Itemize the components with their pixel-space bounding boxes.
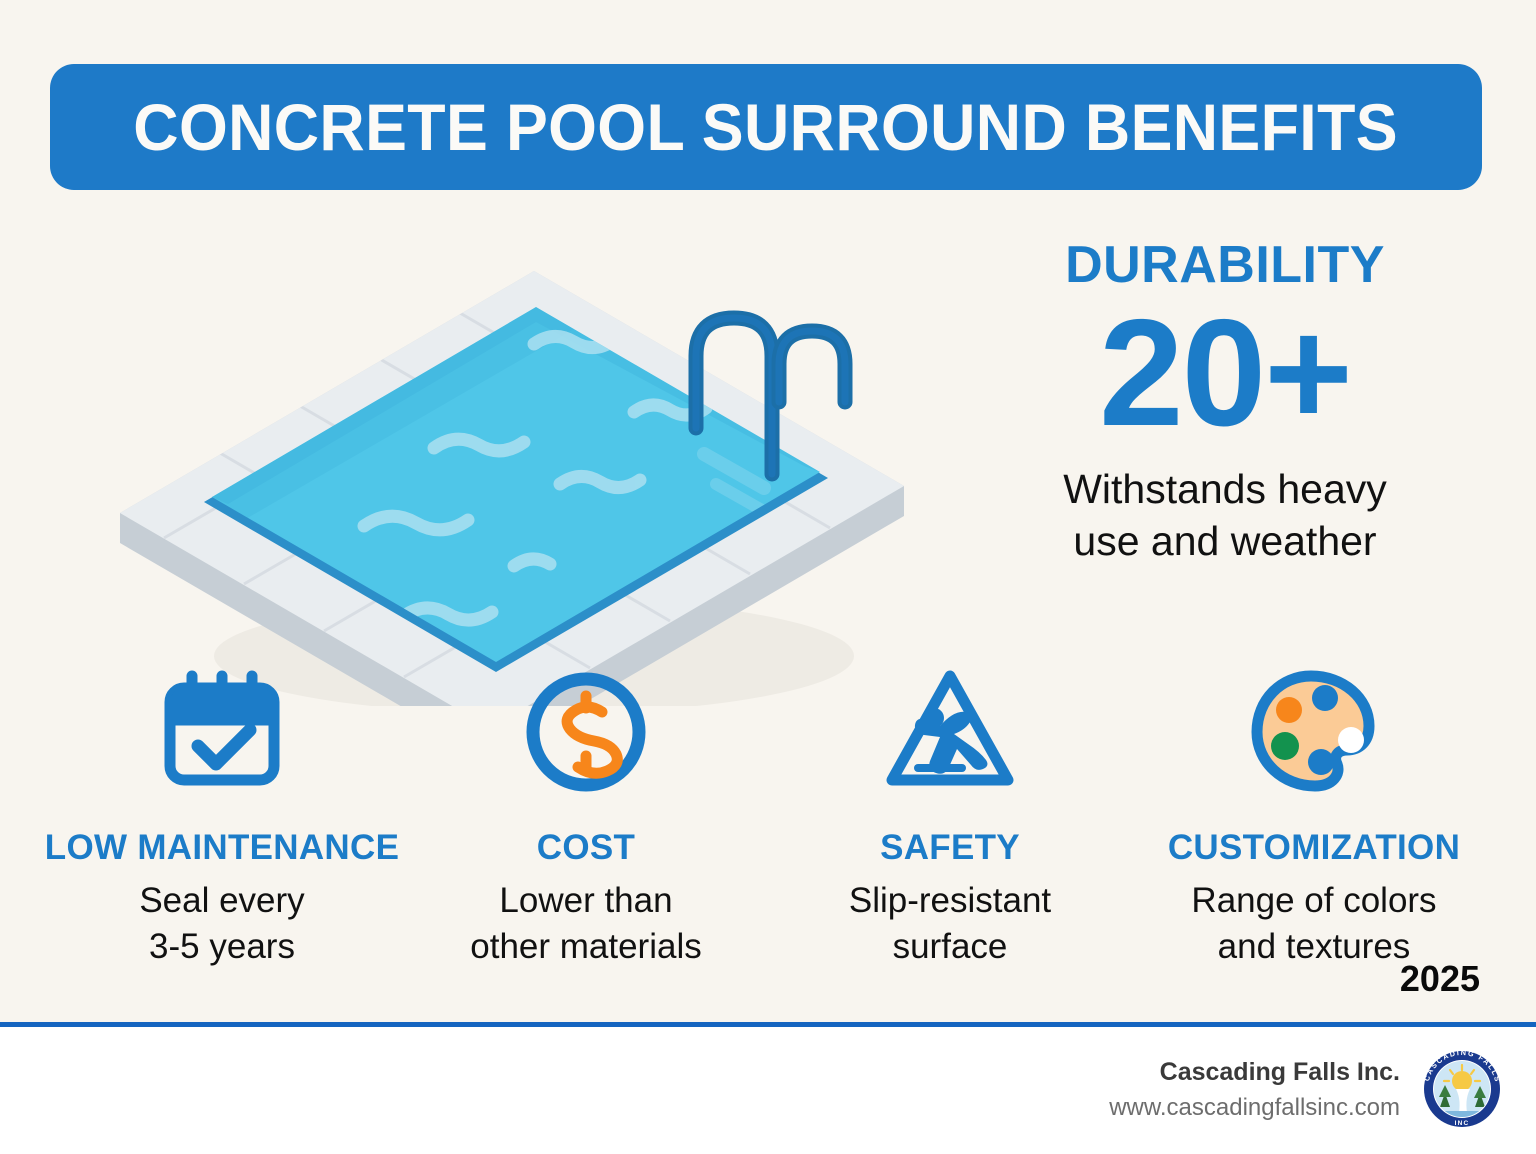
benefit-safety: SAFETY Slip-resistant surface bbox=[768, 662, 1132, 969]
infographic-canvas: CONCRETE POOL SURROUND BENEFITS bbox=[0, 0, 1536, 1022]
benefit-label: CUSTOMIZATION bbox=[1168, 828, 1460, 868]
footer-company-name: Cascading Falls Inc. bbox=[1109, 1056, 1400, 1090]
slip-hazard-triangle-icon bbox=[878, 662, 1022, 802]
benefit-description: Lower than other materials bbox=[470, 878, 701, 969]
footer-website-url[interactable]: www.cascadingfallsinc.com bbox=[1109, 1092, 1400, 1124]
benefits-row: LOW MAINTENANCE Seal every 3-5 years C bbox=[40, 662, 1496, 992]
pool-illustration bbox=[104, 216, 924, 706]
durability-description: Withstands heavy use and weather bbox=[975, 463, 1475, 568]
infographic-page: CONCRETE POOL SURROUND BENEFITS bbox=[0, 0, 1536, 1154]
benefit-label: SAFETY bbox=[880, 828, 1020, 868]
calendar-check-icon bbox=[154, 662, 290, 802]
benefit-customization: CUSTOMIZATION Range of colors and textur… bbox=[1132, 662, 1496, 969]
paint-palette-icon bbox=[1241, 662, 1387, 802]
footer: Cascading Falls Inc. www.cascadingfallsi… bbox=[0, 1027, 1536, 1154]
dollar-circle-icon bbox=[518, 662, 654, 802]
durability-value: 20+ bbox=[975, 297, 1475, 449]
durability-label: DURABILITY bbox=[975, 238, 1475, 293]
cascading-falls-logo-icon: CASCADING FALLS INC bbox=[1416, 1045, 1508, 1137]
benefit-description: Slip-resistant surface bbox=[849, 878, 1051, 969]
title-banner: CONCRETE POOL SURROUND BENEFITS bbox=[50, 64, 1482, 190]
page-title: CONCRETE POOL SURROUND BENEFITS bbox=[134, 89, 1399, 165]
benefit-description: Range of colors and textures bbox=[1191, 878, 1436, 969]
year-label: 2025 bbox=[1400, 958, 1480, 1000]
durability-highlight: DURABILITY 20+ Withstands heavy use and … bbox=[975, 238, 1475, 568]
benefit-description: Seal every 3-5 years bbox=[139, 878, 304, 969]
benefit-low-maintenance: LOW MAINTENANCE Seal every 3-5 years bbox=[40, 662, 404, 969]
svg-text:INC: INC bbox=[1455, 1120, 1470, 1127]
footer-text-block: Cascading Falls Inc. www.cascadingfallsi… bbox=[1109, 1056, 1400, 1124]
benefit-label: LOW MAINTENANCE bbox=[45, 828, 399, 868]
benefit-cost: COST Lower than other materials bbox=[404, 662, 768, 969]
benefit-label: COST bbox=[537, 828, 635, 868]
